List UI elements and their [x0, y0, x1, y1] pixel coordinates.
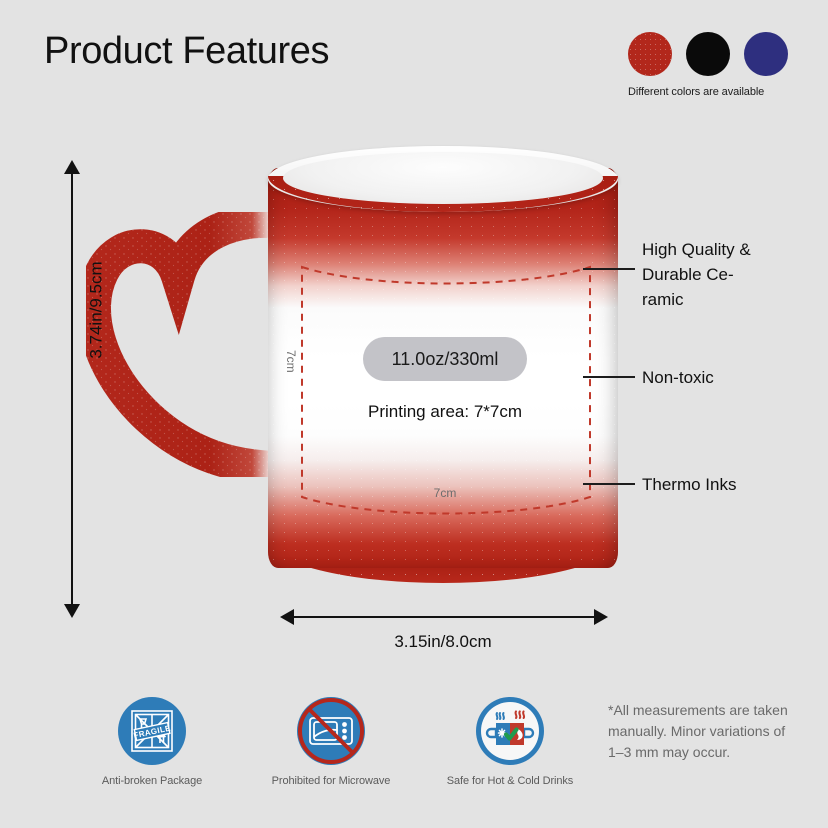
- badge-label-anti-broken-package: Anti-broken Package: [62, 775, 242, 787]
- callout-line-thermo: [583, 483, 635, 485]
- mug-rim: [268, 146, 618, 212]
- fragile-crate-icon: FRAGILE: [118, 697, 186, 765]
- infographic-canvas: Product Features Different colors are av…: [0, 0, 828, 828]
- height-dimension-line: [71, 168, 73, 616]
- callout-label-non-toxic: Non-toxic: [642, 365, 812, 390]
- color-swatch-black[interactable]: [686, 32, 730, 76]
- mug-interior: [283, 152, 603, 204]
- color-swatch-group: Different colors are available: [628, 32, 800, 98]
- swatch-caption: Different colors are available: [628, 86, 800, 98]
- badge-anti-broken-package: FRAGILE Anti-broken Package: [62, 697, 242, 787]
- badge-safe-hot-cold-drinks: Safe for Hot & Cold Drinks: [420, 697, 600, 787]
- width-arrow-right: [594, 609, 608, 625]
- badge-prohibited-microwave: Prohibited for Microwave: [241, 697, 421, 787]
- feature-badge-row: FRAGILE Anti-broken Package: [44, 697, 584, 797]
- printing-area-height-label: 7cm: [284, 350, 298, 373]
- printing-area-label: Printing area: 7*7cm: [300, 400, 590, 423]
- mug-base: [268, 525, 618, 583]
- callout-line-nontoxic: [583, 376, 635, 378]
- color-swatch-blue[interactable]: [744, 32, 788, 76]
- callout-label-high-quality-ceramic: High Quality & Durable Ce- ramic: [642, 237, 812, 312]
- no-microwave-icon: [297, 697, 365, 765]
- callout-line-ceramic: [583, 268, 635, 270]
- heart-handle-icon: [86, 212, 301, 477]
- badge-label-safe-hot-cold-drinks: Safe for Hot & Cold Drinks: [420, 775, 600, 787]
- measurement-disclaimer: *All measurements are taken manually. Mi…: [608, 700, 788, 763]
- width-dimension-label: 3.15in/8.0cm: [292, 632, 594, 652]
- mug-rim-red-band: [268, 176, 618, 212]
- width-dimension-line: [292, 616, 594, 618]
- color-swatch-red[interactable]: [628, 32, 672, 76]
- color-swatch-row: [628, 32, 800, 76]
- page-title: Product Features: [44, 30, 329, 73]
- capacity-badge: 11.0oz/330ml: [363, 337, 527, 381]
- printing-area-content: 11.0oz/330ml Printing area: 7*7cm 7cm 7c…: [300, 245, 590, 517]
- badge-label-prohibited-microwave: Prohibited for Microwave: [241, 775, 421, 787]
- callout-label-thermo-inks: Thermo Inks: [642, 472, 812, 497]
- printing-area-width-label: 7cm: [300, 486, 590, 500]
- hot-cold-mug-icon: [476, 697, 544, 765]
- height-arrow-bottom: [64, 604, 80, 618]
- height-dimension-label: 3.74in/9.5cm: [87, 261, 107, 358]
